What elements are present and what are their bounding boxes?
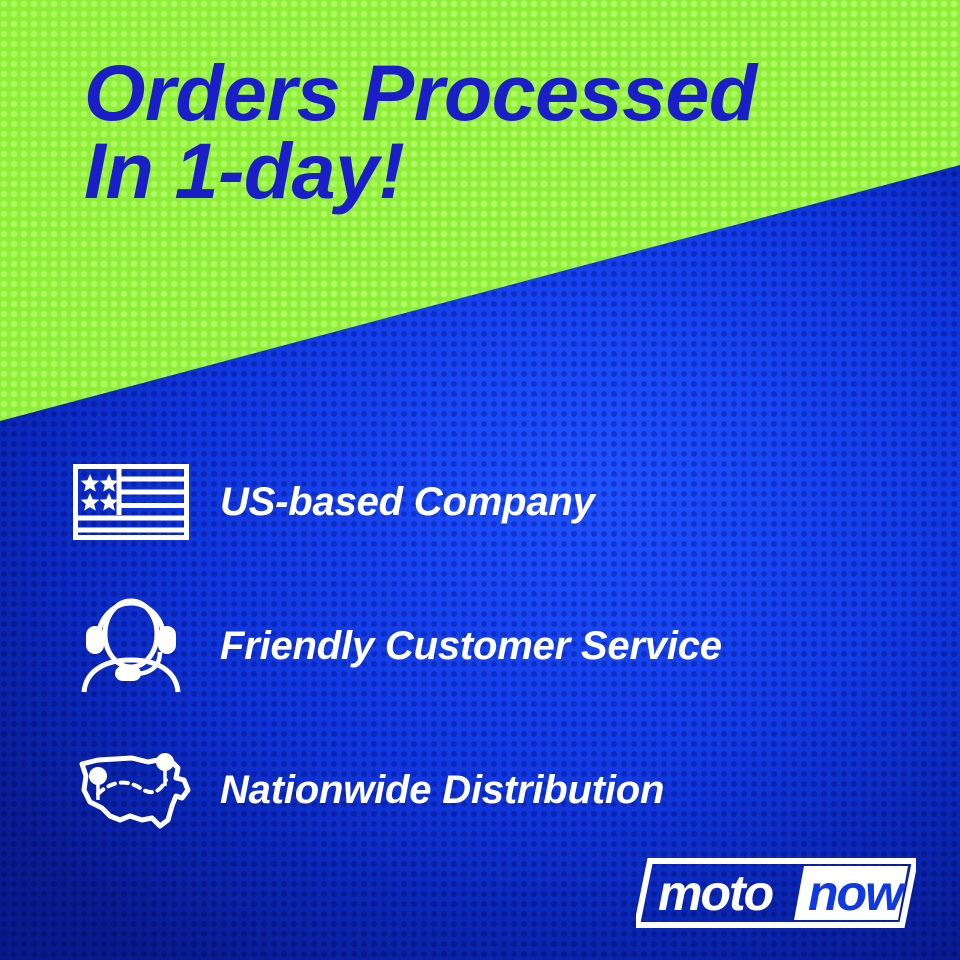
page-title: Orders Processed In 1-day! (84, 54, 914, 210)
list-item: US-based Company (0, 430, 960, 574)
promo-poster: Orders Processed In 1-day! (0, 0, 960, 960)
us-map-route-icon (72, 746, 202, 834)
feature-label-us-based-company: US-based Company (220, 480, 595, 525)
motonow-logo: moto now (636, 857, 916, 929)
list-item: Nationwide Distribution (0, 718, 960, 862)
feature-label-friendly-customer-service: Friendly Customer Service (220, 624, 722, 669)
list-item: Friendly Customer Service (0, 574, 960, 718)
logo-text-moto: moto (658, 865, 773, 921)
feature-list: US-based Company (0, 430, 960, 862)
headset-support-icon (72, 598, 202, 694)
us-flag-icon (72, 463, 202, 541)
feature-label-nationwide-distribution: Nationwide Distribution (220, 768, 664, 813)
logo-text-now: now (808, 865, 907, 921)
